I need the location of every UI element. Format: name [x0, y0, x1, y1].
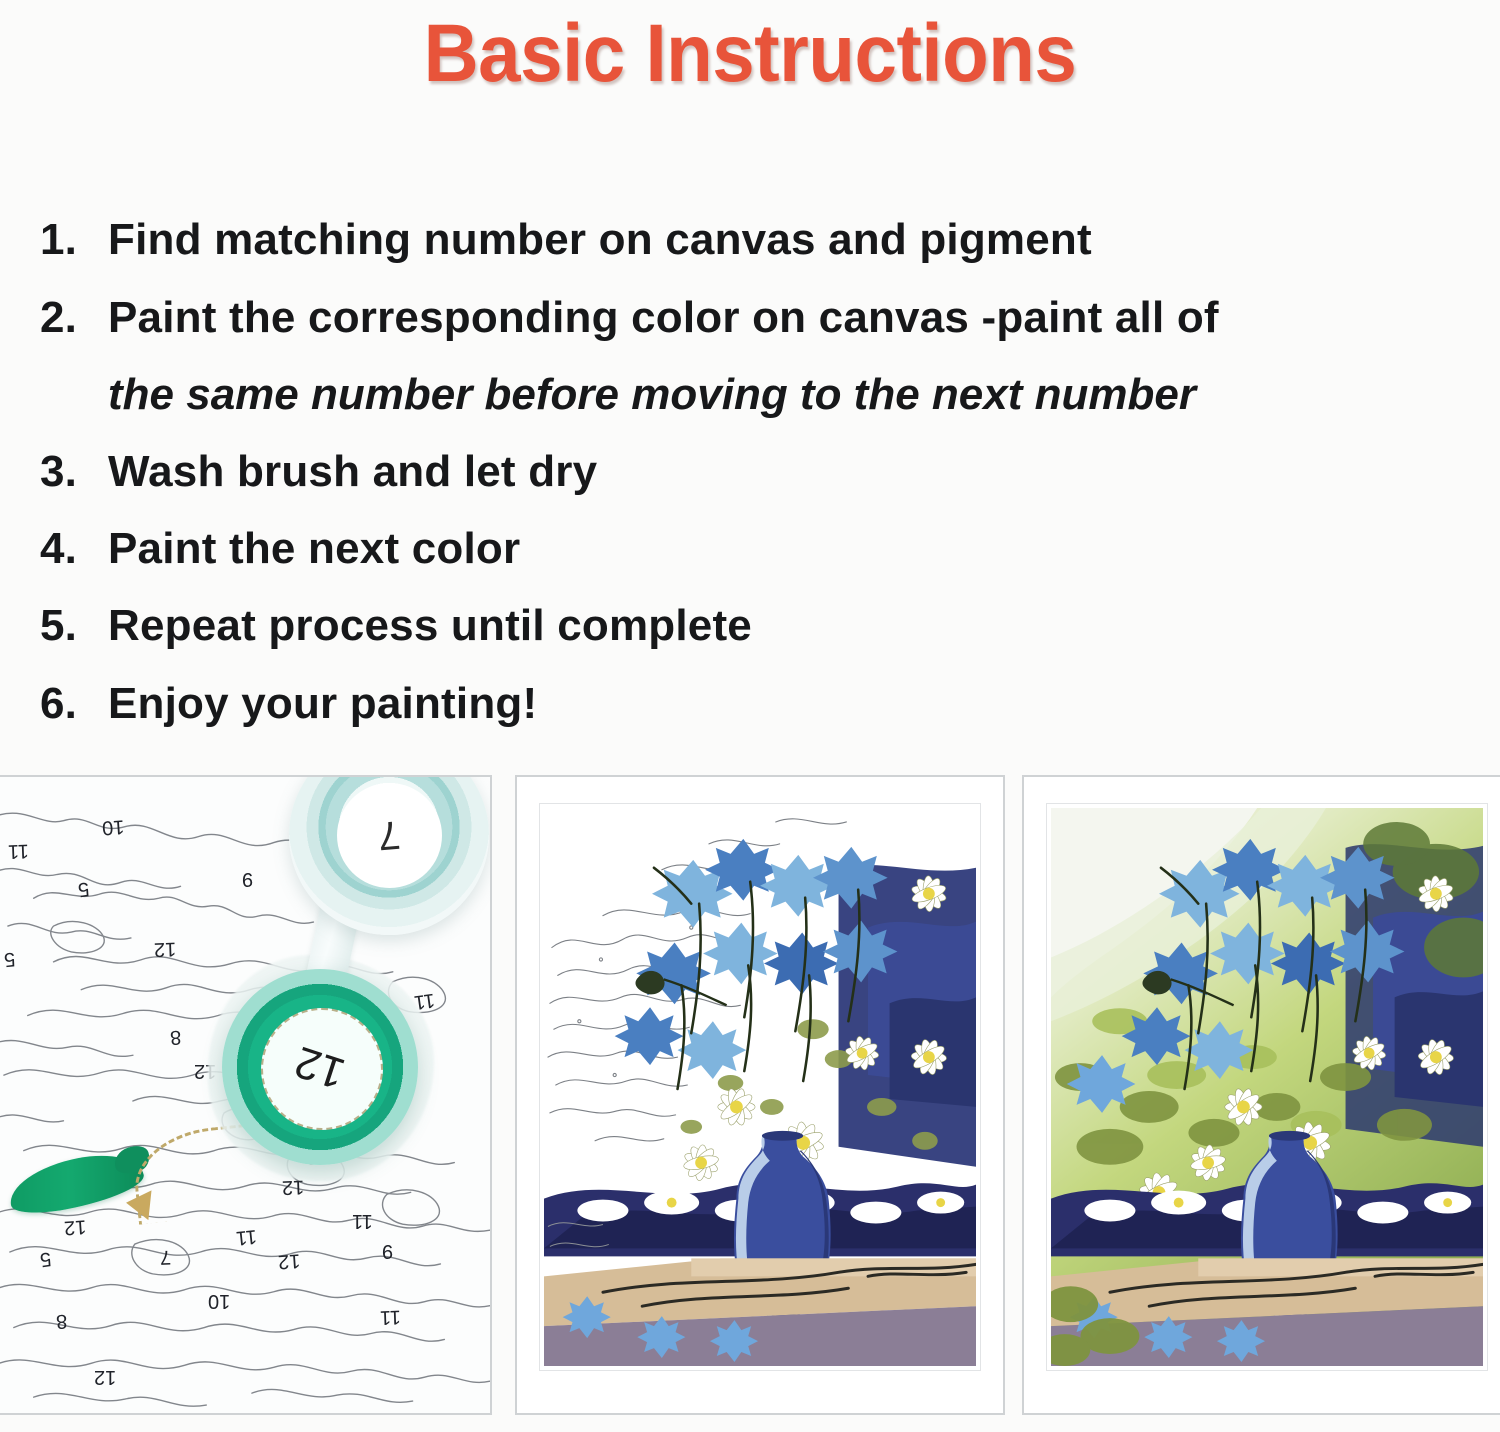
panel-3-inner — [1024, 777, 1500, 1413]
instruction-list: 1. Find matching number on canvas and pi… — [40, 218, 1460, 726]
canvas-number: 12 — [154, 937, 177, 961]
instruction-number-2: 2. — [40, 296, 108, 340]
panel-completed-painting — [1022, 775, 1500, 1415]
partially-painted-scene — [544, 808, 976, 1366]
canvas-number: 10 — [208, 1289, 230, 1312]
panel-2-inner — [517, 777, 1003, 1413]
canvas-number: 9 — [242, 867, 253, 890]
canvas-number: 11 — [380, 1305, 402, 1329]
instruction-number-3: 3. — [40, 450, 108, 494]
instruction-number-6: 6. — [40, 682, 108, 726]
canvas-number: 8 — [55, 1309, 68, 1333]
instruction-text-2-italic: paint all of — [996, 296, 1218, 340]
instruction-number-4: 4. — [40, 527, 108, 571]
instruction-text-6: Enjoy your painting! — [108, 682, 537, 726]
panel-3-artwork — [1051, 808, 1483, 1366]
panel-numbered-canvas: 11 10 5 9 5 12 8 12 11 11 9 12 12 11 11 … — [0, 775, 492, 1415]
page-title: Basic Instructions — [424, 13, 1077, 95]
canvas-number: 7 — [160, 1245, 172, 1268]
panel-2-footer — [539, 1379, 981, 1401]
canvas-number: 8 — [169, 1025, 182, 1049]
panel-2-artwork — [544, 808, 976, 1366]
instruction-item-2: 2. Paint the corresponding color on canv… — [40, 296, 1460, 340]
paint-pot-7-label: 7 — [281, 777, 490, 943]
instruction-item-6: 6. Enjoy your painting! — [40, 682, 1460, 726]
paint-pot-12[interactable]: 12 — [222, 969, 418, 1165]
numbered-canvas-artwork: 11 10 5 9 5 12 8 12 11 11 9 12 12 11 11 … — [0, 777, 490, 1413]
panel-3-mat — [1046, 803, 1488, 1371]
instruction-number-1: 1. — [40, 218, 108, 262]
canvas-number: 12 — [63, 1214, 87, 1238]
partially-painted-svg — [544, 808, 976, 1366]
canvas-number: 5 — [3, 946, 16, 970]
instruction-text-2: Paint the corresponding color on canvas … — [108, 296, 996, 340]
instruction-number-5: 5. — [40, 604, 108, 648]
instruction-text-4: Paint the next color — [108, 527, 520, 571]
panel-partially-painted — [515, 775, 1005, 1415]
canvas-number: 11 — [8, 839, 30, 863]
canvas-number: 11 — [352, 1209, 373, 1232]
example-image-row: 11 10 5 9 5 12 8 12 11 11 9 12 12 11 11 … — [0, 775, 1500, 1420]
instruction-item-3: 3. Wash brush and let dry — [40, 450, 1460, 494]
paint-pot-7[interactable]: 7 — [289, 777, 489, 935]
instruction-text-1: Find matching number on canvas and pigme… — [108, 218, 1092, 262]
instruction-item-5: 5. Repeat process until complete — [40, 604, 1460, 648]
panel-2-mat — [539, 803, 981, 1371]
title-bar: Basic Instructions — [0, 0, 1500, 108]
instruction-text-3: Wash brush and let dry — [108, 450, 597, 494]
completed-painting-svg — [1051, 808, 1483, 1366]
instruction-text-5: Repeat process until complete — [108, 604, 752, 648]
canvas-number: 11 — [235, 1224, 258, 1249]
instruction-text-2-continuation: the same number before moving to the nex… — [40, 373, 1460, 417]
canvas-number: 9 — [382, 1239, 393, 1262]
guide-arrow-icon — [124, 1188, 151, 1220]
completed-painting-scene — [1051, 808, 1483, 1366]
panel-3-footer — [1046, 1379, 1488, 1401]
instruction-item-4: 4. Paint the next color — [40, 527, 1460, 571]
panel-1-inner: 11 10 5 9 5 12 8 12 11 11 9 12 12 11 11 … — [0, 777, 490, 1413]
canvas-number: 12 — [277, 1248, 301, 1272]
instruction-item-1: 1. Find matching number on canvas and pi… — [40, 218, 1460, 262]
canvas-number: 10 — [101, 814, 125, 838]
canvas-number: 12 — [94, 1365, 116, 1388]
